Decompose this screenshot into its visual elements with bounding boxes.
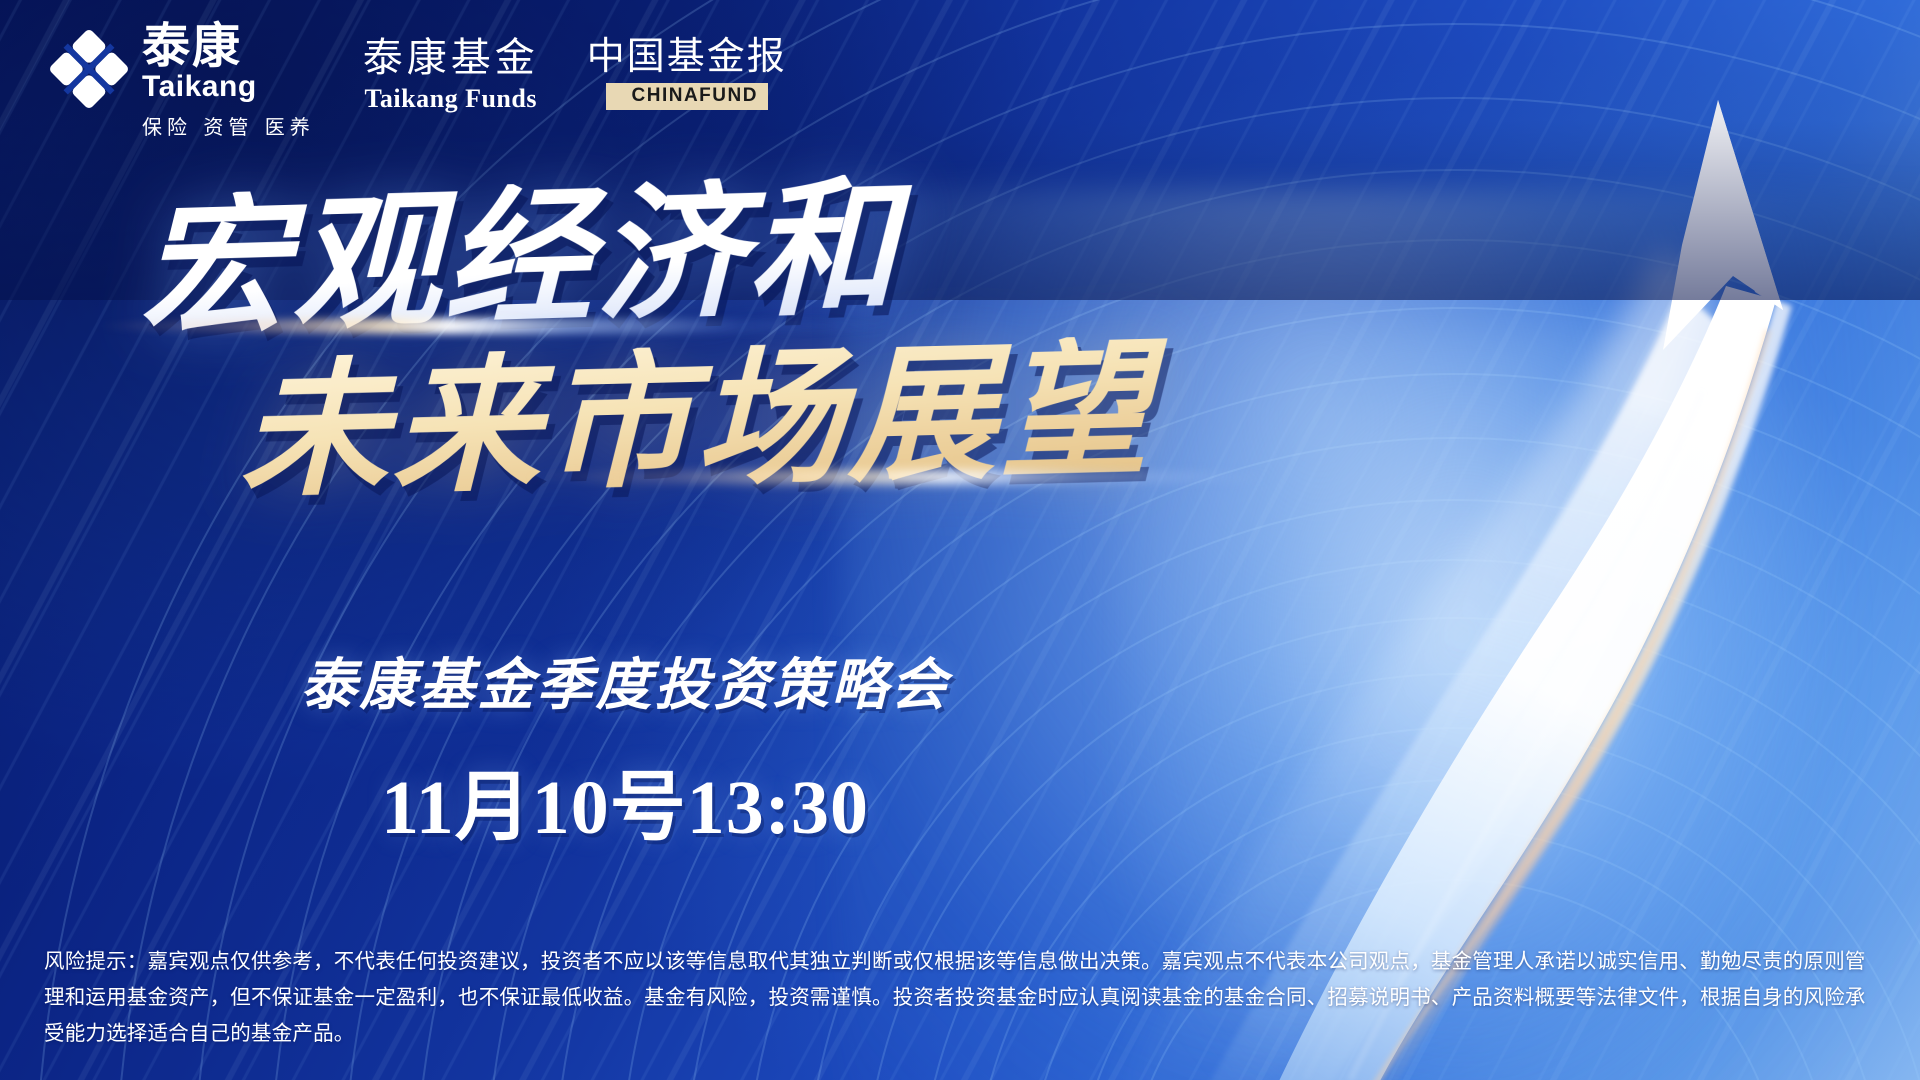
logo-china-fund-news: 中国基金报 CHINAFUND <box>587 36 787 110</box>
hero-title-block: 宏观经济和 未来市场展望 <box>0 180 1180 494</box>
taikang-diamond-icon <box>46 26 132 112</box>
taikang-wordmark: 泰康 Taikang 保险 资管 医养 <box>142 22 315 140</box>
event-datetime: 11月10号13:30 <box>0 745 1250 855</box>
hero-subtitle: 泰康基金季度投资策略会 <box>0 640 1250 721</box>
china-fund-badge: CHINAFUND <box>606 83 768 110</box>
hero-title-line-1: 宏观经济和 <box>140 165 1180 342</box>
lens-flare-icon <box>90 318 910 334</box>
taikang-funds-en-name: Taikang Funds <box>364 84 536 114</box>
risk-disclaimer: 风险提示：嘉宾观点仅供参考，不代表任何投资建议，投资者不应以该等信息取代其独立判… <box>44 944 1884 1052</box>
poster-canvas: 泰康 Taikang 保险 资管 医养 泰康基金 Taikang Funds 中… <box>0 0 1920 1080</box>
rising-arrow-icon <box>1020 0 1920 1080</box>
lens-flare-secondary-icon <box>520 470 1280 484</box>
logo-taikang-funds: 泰康基金 Taikang Funds <box>363 36 539 114</box>
taikang-funds-cn-name: 泰康基金 <box>363 36 539 80</box>
taikang-tagline: 保险 资管 医养 <box>142 111 315 140</box>
china-fund-cn-name: 中国基金报 <box>587 36 787 78</box>
risk-disclaimer-text: 风险提示：嘉宾观点仅供参考，不代表任何投资建议，投资者不应以该等信息取代其独立判… <box>44 944 1884 1052</box>
logo-taikang: 泰康 Taikang 保险 资管 医养 <box>46 22 315 140</box>
taikang-cn-name: 泰康 <box>142 22 315 70</box>
taikang-en-name: Taikang <box>142 71 315 103</box>
logo-bar: 泰康 Taikang 保险 资管 医养 泰康基金 Taikang Funds 中… <box>46 22 787 140</box>
